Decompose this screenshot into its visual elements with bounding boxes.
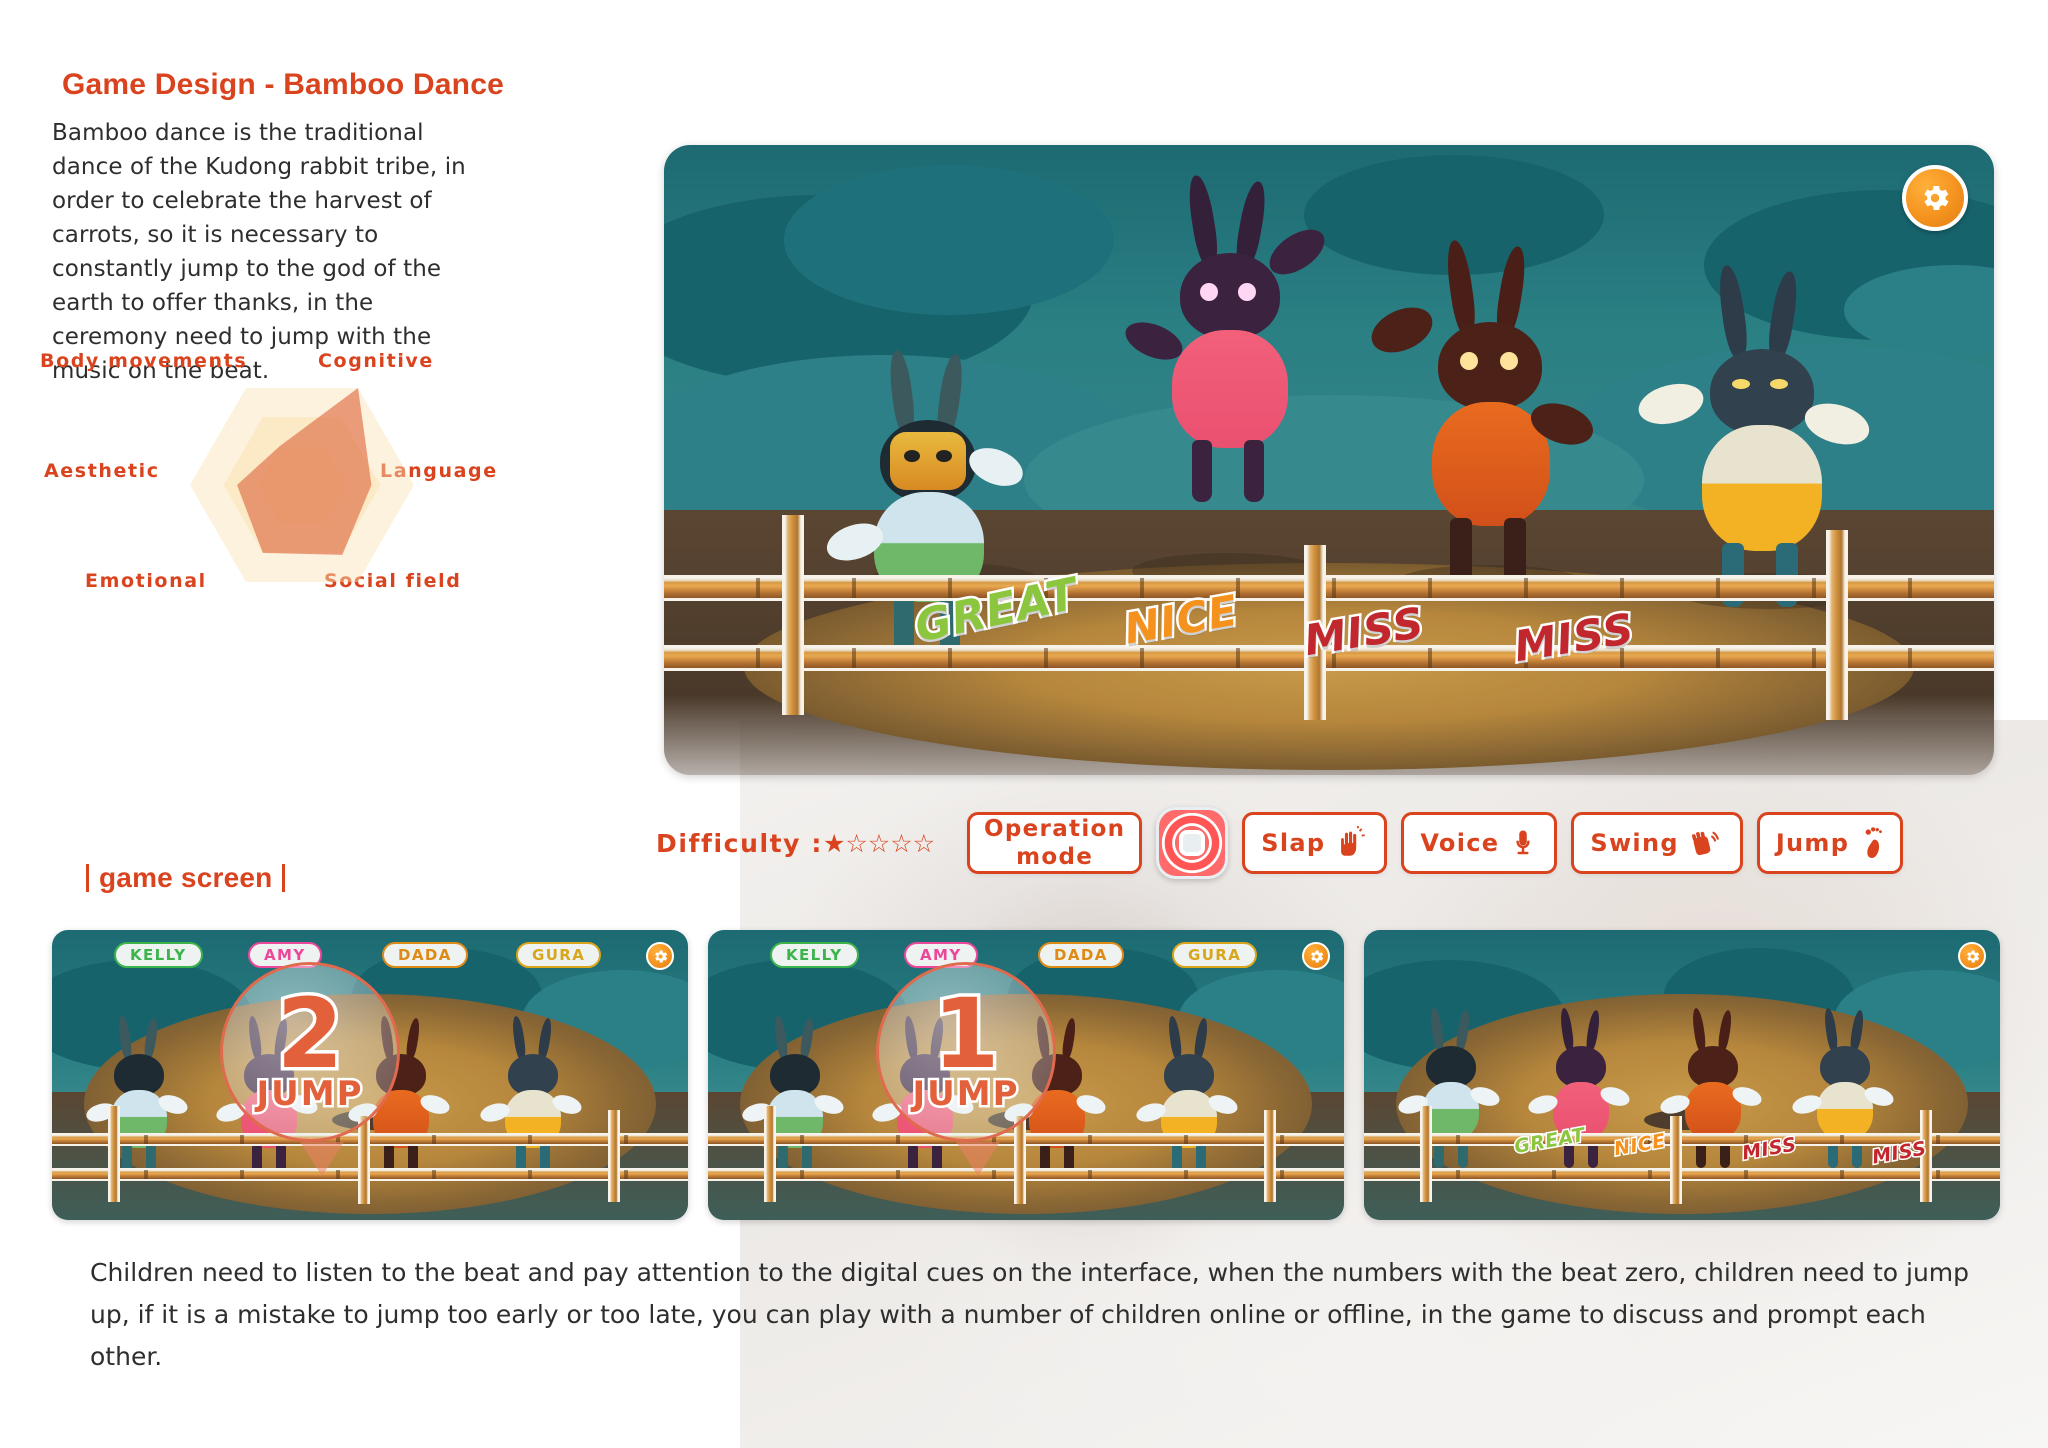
- player-name: GURA: [1188, 946, 1241, 964]
- rabbit-ear: [117, 1016, 133, 1061]
- thumb-bamboo-post: [108, 1106, 120, 1202]
- rabbit-body: [1172, 330, 1288, 448]
- rabbit-ear: [1765, 270, 1801, 362]
- player-name: AMY: [264, 946, 306, 964]
- countdown-bubble: 2JUMP: [220, 962, 400, 1142]
- rabbit-character-gura: [1674, 265, 1864, 565]
- thumb-bamboo-rail: [708, 1168, 1344, 1181]
- game-scene: GREAT NICE MISS MISS: [664, 145, 1994, 775]
- thumb-rabbit: [1150, 1016, 1242, 1146]
- ability-radar-chart: Body movements Cognitive Language Social…: [32, 455, 502, 615]
- player-name: GURA: [532, 946, 585, 964]
- hand-swing-icon: [1688, 826, 1724, 860]
- player-nametag: GURA: [516, 942, 601, 968]
- operation-mode-button[interactable]: Operation mode: [967, 812, 1142, 874]
- difficulty-text: Difficulty :: [656, 829, 823, 858]
- game-screen-section-heading: game screen: [86, 862, 285, 894]
- player-nametag: GURA: [1172, 942, 1257, 968]
- rabbit-head: [1438, 322, 1542, 410]
- difficulty-and-mode-bar: Difficulty :★☆☆☆☆ Operation mode Slap Vo…: [656, 800, 1903, 886]
- gear-icon: [652, 948, 669, 965]
- player-name: KELLY: [130, 946, 187, 964]
- thumb-results[interactable]: GREATNICEMISSMISS: [1364, 930, 2000, 1220]
- rabbit-ear: [773, 1016, 789, 1061]
- bamboo-post: [782, 515, 804, 715]
- settings-button[interactable]: [1902, 165, 1968, 231]
- game-screen-title-text: game screen: [99, 862, 272, 894]
- settings-button[interactable]: [646, 942, 674, 970]
- countdown-caption: JUMP: [256, 1074, 363, 1114]
- countdown-bubble-tail: [300, 1142, 344, 1176]
- thumb-bamboo-post: [1014, 1116, 1026, 1204]
- player-name: DADA: [1054, 946, 1108, 964]
- thumb-bamboo-post: [1264, 1110, 1276, 1202]
- rabbit-eye: [1732, 379, 1750, 389]
- game-design-body: Bamboo dance is the traditional dance of…: [52, 116, 492, 388]
- rabbit-mask-eye: [904, 450, 920, 462]
- radar-label-aesthetic: Aesthetic: [44, 460, 160, 482]
- rabbit-body: [1702, 425, 1822, 551]
- bamboo-post: [1826, 530, 1848, 720]
- mode-label-swing: Swing: [1590, 829, 1678, 857]
- rabbit-ear: [1443, 239, 1478, 337]
- difficulty-label: Difficulty :★☆☆☆☆: [656, 829, 935, 858]
- rabbit-eye: [1200, 283, 1218, 301]
- player-nametag: KELLY: [770, 942, 859, 968]
- thumb-rabbit: [1542, 1008, 1634, 1138]
- mode-label-slap: Slap: [1261, 829, 1325, 857]
- mode-label-jump: Jump: [1776, 829, 1849, 857]
- mode-button-jump[interactable]: Jump: [1757, 812, 1903, 874]
- game-screenshot-main[interactable]: GREAT NICE MISS MISS: [664, 145, 1994, 775]
- gear-icon: [1308, 948, 1325, 965]
- countdown-bubble: 1JUMP: [876, 962, 1056, 1142]
- mode-button-swing[interactable]: Swing: [1571, 812, 1742, 874]
- difficulty-stars: ★☆☆☆☆: [823, 829, 935, 858]
- mode-button-voice[interactable]: Voice: [1401, 812, 1557, 874]
- rabbit-ear: [1716, 264, 1751, 360]
- microphone-icon: [1508, 826, 1538, 860]
- player-nametag: DADA: [1038, 942, 1124, 968]
- rabbit-ear: [1559, 1008, 1575, 1053]
- thumb-rabbit: [1806, 1008, 1898, 1138]
- controller-inner-square: [1179, 830, 1205, 856]
- section-title-game-design: Game Design - Bamboo Dance: [52, 68, 492, 102]
- countdown-number: 2: [277, 990, 344, 1078]
- rabbit-ear: [1429, 1008, 1445, 1053]
- controller-icon[interactable]: [1156, 807, 1228, 879]
- rabbit-ear: [1823, 1008, 1839, 1053]
- thumb-bamboo-post: [358, 1116, 370, 1204]
- player-nametag: DADA: [382, 942, 468, 968]
- rabbit-leg: [1192, 440, 1212, 502]
- thumb-rabbit: [1674, 1008, 1766, 1138]
- rabbit-ear: [1691, 1008, 1707, 1053]
- mode-button-slap[interactable]: Slap: [1242, 812, 1387, 874]
- game-design-section: Game Design - Bamboo Dance Bamboo dance …: [52, 68, 492, 388]
- player-nametag: KELLY: [114, 942, 203, 968]
- rabbit-eye: [1770, 379, 1788, 389]
- title-bar-left: [86, 864, 89, 892]
- title-bar-right: [282, 864, 285, 892]
- thumb-bamboo-rail: [52, 1133, 688, 1146]
- rabbit-ear: [511, 1016, 527, 1061]
- hill-shape: [784, 165, 1114, 315]
- operation-mode-line1: Operation: [984, 815, 1125, 843]
- footprint-icon: [1858, 826, 1884, 860]
- countdown-caption: JUMP: [912, 1074, 1019, 1114]
- rabbit-character-kelly: [854, 350, 1034, 600]
- rabbit-eye: [1238, 283, 1256, 301]
- rabbit-mask: [890, 432, 966, 490]
- game-screen-thumbnails: KELLYAMYDADAGURA2JUMPKELLYAMYDADAGURA1JU…: [52, 930, 2000, 1220]
- thumb-rabbit: [494, 1016, 586, 1146]
- rabbit-eye: [1500, 352, 1518, 370]
- thumb-bamboo-post: [608, 1110, 620, 1202]
- gear-icon: [1964, 948, 1981, 965]
- rabbit-mask-eye: [936, 450, 952, 462]
- hand-slap-icon: [1334, 826, 1368, 860]
- bottom-description: Children need to listen to the beat and …: [90, 1252, 1980, 1378]
- bamboo-rail: [664, 575, 1994, 601]
- rabbit-head: [1180, 253, 1280, 339]
- thumb-bamboo-rail: [1364, 1168, 2000, 1181]
- settings-button[interactable]: [1302, 942, 1330, 970]
- radar-plot: [152, 370, 452, 620]
- gear-icon: [1918, 181, 1952, 215]
- countdown-number: 1: [933, 990, 1000, 1078]
- thumb-countdown-1[interactable]: KELLYAMYDADAGURA1JUMP: [708, 930, 1344, 1220]
- rabbit-character-dada: [1404, 240, 1594, 540]
- thumb-bamboo-rail: [52, 1168, 688, 1181]
- section-title-text: Game Design - Bamboo Dance: [62, 68, 504, 102]
- rabbit-eye: [1460, 352, 1478, 370]
- rabbit-character-amy: [1144, 175, 1334, 455]
- player-name: AMY: [920, 946, 962, 964]
- settings-button[interactable]: [1958, 942, 1986, 970]
- operation-mode-line2: mode: [1016, 843, 1093, 871]
- thumb-bamboo-post: [1670, 1116, 1682, 1204]
- rabbit-ear: [1167, 1016, 1183, 1061]
- player-name: DADA: [398, 946, 452, 964]
- radar-label-body-movements: Body movements: [40, 350, 247, 372]
- countdown-bubble-tail: [956, 1142, 1000, 1176]
- thumb-bamboo-post: [764, 1106, 776, 1202]
- player-name: KELLY: [786, 946, 843, 964]
- mode-label-voice: Voice: [1420, 829, 1499, 857]
- rabbit-head: [1710, 349, 1814, 435]
- radar-label-cognitive: Cognitive: [318, 350, 434, 372]
- rabbit-leg: [1244, 440, 1264, 502]
- thumb-bamboo-post: [1420, 1106, 1432, 1202]
- thumb-countdown-2[interactable]: KELLYAMYDADAGURA2JUMP: [52, 930, 688, 1220]
- thumb-bamboo-rail: [708, 1133, 1344, 1146]
